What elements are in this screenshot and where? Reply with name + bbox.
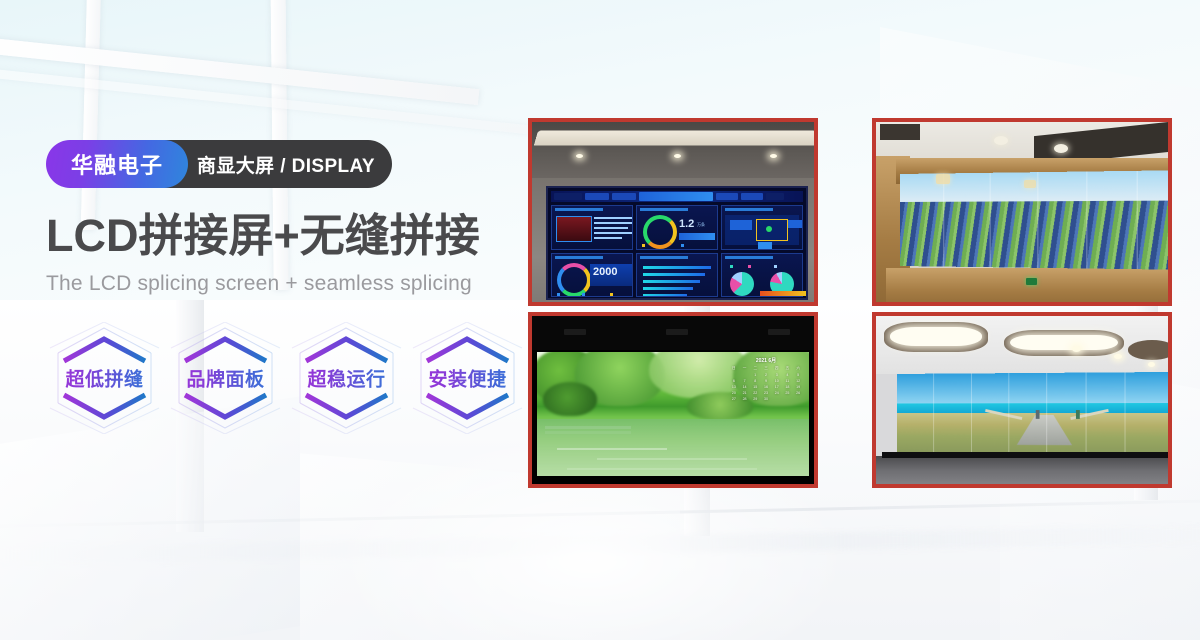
category-pill-label: 商显大屏 / DISPLAY [197,151,375,178]
calendar-day: 4 [783,373,793,378]
calendar-weekday: 一 [740,366,750,371]
calendar-weekday: 三 [761,366,771,371]
calendar-day: 30 [761,397,771,402]
floor [876,456,1168,484]
photo-willow-wall: 2021 6月 日 一 二 三 四 五 六 123456789101112131… [528,312,818,488]
feature-badge: 超稳运行 [288,322,405,434]
ceiling-cove [534,131,814,146]
calendar-day: 27 [729,397,739,402]
dashboard-topbar [551,191,803,202]
cove-light [1010,335,1118,350]
calendar-day: 6 [729,379,739,384]
dashboard-nav-item [716,193,738,200]
calendar-day [740,373,750,378]
photo-solar-wall [872,118,1172,306]
feature-badge-list: 超低拼缝 品牌面板 [46,322,526,434]
floor-edge [0,498,1200,529]
calendar-day: 19 [793,385,803,390]
calendar-day: 16 [761,385,771,390]
calendar-day: 2 [761,373,771,378]
bezel-logo [564,329,586,335]
dashboard-card-donut2: 2000 [551,253,633,298]
calendar-overlay: 2021 6月 日 一 二 三 四 五 六 123456789101112131… [729,357,803,413]
ceiling-vent [880,124,920,140]
downlight [576,154,583,158]
screen-sky [897,372,1168,404]
dashboard-card-intro [551,205,633,250]
ceiling-cove [1128,340,1168,360]
exit-sign-icon [1026,278,1037,285]
tree-foliage [543,382,597,416]
feature-badge-label: 品牌面板 [167,365,284,392]
dashboard-user [766,193,784,200]
wall-downlight [1024,180,1036,188]
calendar-day: 10 [772,379,782,384]
calendar-day: 23 [761,391,771,396]
calendar-day [772,397,782,402]
dashboard-title [639,192,713,201]
calendar-day: 21 [740,391,750,396]
dashboard-nav-item [585,193,609,200]
ceiling-spot [1054,144,1068,153]
dashboard-big-number: 2000 [593,266,617,278]
calendar-day: 29 [750,397,760,402]
calendar-day: 17 [772,385,782,390]
window-mullion [0,35,479,105]
calendar-day: 28 [740,397,750,402]
calendar-day: 18 [783,385,793,390]
promo-banner: 商显大屏 / DISPLAY 华融电子 LCD拼接屏+无缝拼接 The LCD … [0,0,1200,640]
calendar-weekday: 五 [783,366,793,371]
dashboard-timestamp [554,193,582,200]
brand-pill: 华融电子 [46,140,188,188]
feature-badge-label: 超稳运行 [288,365,405,392]
ceiling-spot [1072,346,1081,352]
calendar-weekday: 二 [750,366,760,371]
videowall-screen [897,372,1168,454]
feature-badge-label: 安装便捷 [409,365,526,392]
bezel-logo [768,329,790,335]
calendar-day: 24 [772,391,782,396]
dashboard-card-bars [636,253,718,298]
cove-light [890,327,982,346]
calendar-day [793,397,803,402]
calendar-weekday: 四 [772,366,782,371]
ceiling-spot [1148,362,1155,367]
photo-dashboard: 1.2 万条 [528,118,818,306]
page-title: LCD拼接屏+无缝拼接 [46,212,526,259]
calendar-day [729,373,739,378]
calendar-day: 3 [772,373,782,378]
calendar-day: 25 [783,391,793,396]
calendar-day: 22 [750,391,760,396]
ceiling-spot [994,136,1008,145]
ceiling-spot [1114,354,1122,359]
dashboard-card-donut: 1.2 万条 [636,205,718,250]
brand-tag-row: 商显大屏 / DISPLAY 华融电子 [46,140,392,188]
calendar-day: 14 [740,385,750,390]
calendar-weekday-row: 日 一 二 三 四 五 六 [729,366,803,371]
calendar-day: 15 [750,385,760,390]
screen-willow-scene: 2021 6月 日 一 二 三 四 五 六 123456789101112131… [537,352,809,476]
brand-pill-label: 华融电子 [71,148,163,180]
calendar-day: 9 [761,379,771,384]
feature-badge-label: 超低拼缝 [46,365,163,392]
dashboard-unit: 万条 [697,222,705,228]
calendar-day: 5 [793,373,803,378]
downlight [674,154,681,158]
feature-badge: 安装便捷 [409,322,526,434]
bezel-logo [666,329,688,335]
headline-block: 商显大屏 / DISPLAY 华融电子 LCD拼接屏+无缝拼接 The LCD … [46,140,526,434]
calendar-day [783,397,793,402]
dashboard-big-number: 1.2 [679,218,694,230]
feature-badge: 品牌面板 [167,322,284,434]
person [1036,410,1040,419]
dashboard-nav-item [741,193,763,200]
window-mullion [0,67,529,134]
downlight [770,154,777,158]
screen-watermark [760,291,806,296]
calendar-day: 13 [729,385,739,390]
screen-solar-field [900,200,1168,270]
calendar-title: 2021 6月 [729,357,803,364]
calendar-day-grid: 1234567891011121314151617181920212223242… [729,373,803,402]
screen-bottom-bezel [882,452,1168,458]
calendar-day: 11 [783,379,793,384]
screen-sea [897,403,1168,413]
page-subtitle: The LCD splicing screen + seamless splic… [46,272,526,296]
calendar-day: 7 [740,379,750,384]
calendar-day: 20 [729,391,739,396]
dashboard-card-flow [721,205,803,250]
calendar-weekday: 日 [729,366,739,371]
wood-panel [886,268,1168,302]
person [1076,410,1080,419]
dashboard-nav-item [612,193,636,200]
calendar-day: 12 [793,379,803,384]
calendar-day: 26 [793,391,803,396]
calendar-day: 1 [750,373,760,378]
calendar-weekday: 六 [793,366,803,371]
dashboard-card-grid: 1.2 万条 [551,205,803,297]
calendar-day: 8 [750,379,760,384]
feature-badge: 超低拼缝 [46,322,163,434]
photo-beach-wall [872,312,1172,488]
wall-downlight [936,174,950,184]
floor-edge [0,524,1200,565]
videowall-screen: 1.2 万条 [546,186,808,300]
